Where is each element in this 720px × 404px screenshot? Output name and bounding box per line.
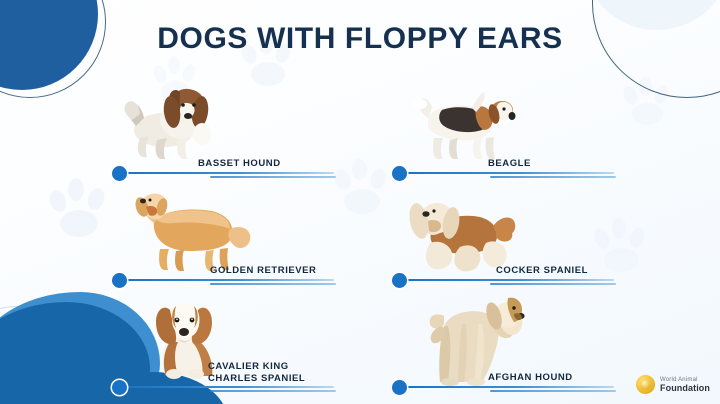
breed-card[interactable]: CAVALIER KING CHARLES SPANIEL	[112, 288, 362, 392]
breed-underline-secondary	[210, 176, 336, 178]
breed-underline	[120, 172, 334, 174]
world-animal-foundation-logo[interactable]: World Animal Foundation	[636, 375, 710, 394]
breed-label: GOLDEN RETRIEVER	[210, 265, 316, 277]
breed-underline	[400, 279, 614, 281]
golden-retriever-photo	[112, 181, 362, 273]
afghan-hound-photo	[392, 288, 642, 380]
breed-label: COCKER SPANIEL	[496, 265, 588, 277]
page-title: DOGS WITH FLOPPY EARS	[0, 22, 720, 56]
beagle-photo	[392, 74, 642, 166]
breed-card[interactable]: COCKER SPANIEL	[392, 181, 642, 285]
breed-label: AFGHAN HOUND	[488, 372, 573, 384]
basset-hound-photo	[112, 74, 362, 166]
breed-underline-secondary	[490, 390, 616, 392]
breed-underline	[400, 386, 614, 388]
breed-underline	[400, 172, 614, 174]
foundation-emblem-icon	[636, 375, 655, 394]
breed-underline-secondary	[210, 390, 336, 392]
breed-card[interactable]: GOLDEN RETRIEVER	[112, 181, 362, 285]
breed-label: BASSET HOUND	[198, 158, 281, 170]
breed-underline	[120, 386, 334, 388]
breed-bullet-dot	[112, 273, 127, 288]
breed-bullet-dot	[112, 166, 127, 181]
breed-underline	[120, 279, 334, 281]
logo-line-1: World Animal	[660, 377, 710, 383]
breed-underline-secondary	[490, 176, 616, 178]
breed-bullet-dot	[392, 273, 407, 288]
breed-bullet-dot	[392, 166, 407, 181]
breed-bullet-dot	[112, 380, 127, 395]
breed-underline-secondary	[210, 283, 336, 285]
breed-label: BEAGLE	[488, 158, 531, 170]
breed-card[interactable]: AFGHAN HOUND	[392, 288, 642, 392]
breed-card[interactable]: BASSET HOUND	[112, 74, 362, 178]
breed-grid: BASSET HOUND	[112, 74, 632, 396]
cocker-spaniel-photo	[392, 181, 642, 273]
paw-icon	[44, 168, 114, 238]
slide-canvas: DOGS WITH FLOPPY EARS	[0, 0, 720, 404]
breed-bullet-dot	[392, 380, 407, 395]
logo-text: World Animal Foundation	[660, 377, 710, 393]
breed-card[interactable]: BEAGLE	[392, 74, 642, 178]
breed-label: CAVALIER KING CHARLES SPANIEL	[208, 361, 305, 384]
logo-line-2: Foundation	[660, 384, 710, 393]
breed-underline-secondary	[490, 283, 616, 285]
